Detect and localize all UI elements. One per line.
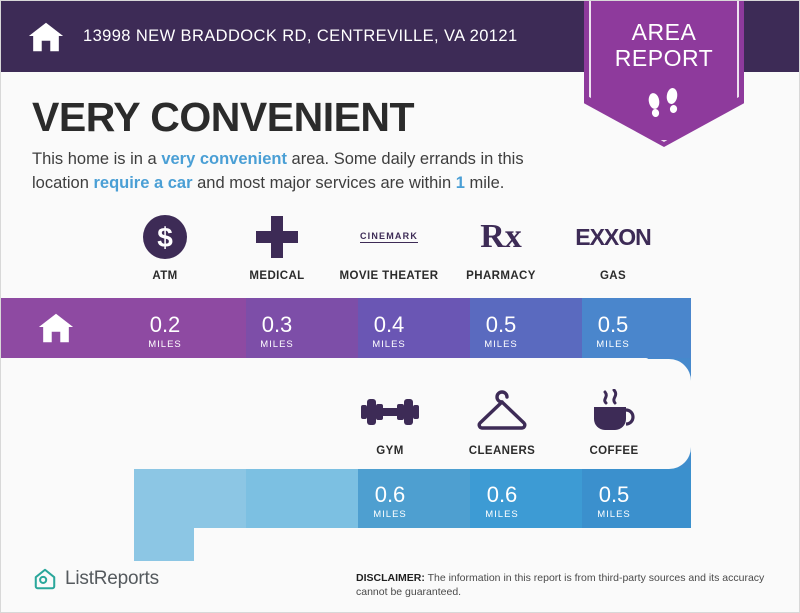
footprints-icon [642, 85, 686, 119]
dumbbell-icon [360, 388, 420, 436]
exxon-e: E [575, 224, 589, 250]
amenity-cleaners[interactable]: CLEANERS [446, 388, 558, 457]
desc-part-4: mile. [465, 174, 504, 192]
area-report-badge: AREA REPORT [584, 1, 744, 147]
amenity-label: COFFEE [589, 445, 638, 457]
ribbon-seg-pharmacy [470, 298, 582, 358]
home-icon [37, 309, 75, 347]
desc-part-1: This home is in a [32, 150, 161, 168]
listreports-house-icon [33, 567, 57, 591]
ribbon-seg-tail-b [246, 468, 358, 528]
amenity-label: PHARMACY [466, 270, 536, 282]
ribbon-seg-atm [134, 298, 246, 358]
badge-line-1: AREA [584, 19, 744, 45]
home-icon [27, 18, 65, 56]
amenity-label: GAS [600, 270, 626, 282]
amenity-movie-theater[interactable]: CINEMARK MOVIE THEATER [333, 213, 445, 282]
medical-cross-icon [254, 213, 300, 261]
amenity-atm[interactable]: $ ATM [109, 213, 221, 282]
desc-highlight-1: very convenient [161, 150, 287, 168]
amenity-label: ATM [152, 270, 177, 282]
ribbon-seg-medical [246, 298, 358, 358]
rx-icon: Rx [480, 213, 522, 261]
listreports-logo[interactable]: ListReports [33, 567, 159, 591]
exxon-logo-icon: EXXON [575, 213, 651, 261]
rx-wordmark: Rx [480, 220, 522, 254]
exxon-xx: XX [590, 226, 619, 249]
amenity-label: MOVIE THEATER [340, 270, 439, 282]
cinemark-logo-icon: CINEMARK [360, 213, 418, 261]
ribbon-seg-gym [358, 468, 470, 528]
desc-highlight-2: require a car [93, 174, 192, 192]
exxon-on: ON [618, 224, 651, 250]
disclaimer: DISCLAIMER: The information in this repo… [356, 571, 776, 599]
amenity-pharmacy[interactable]: Rx PHARMACY [445, 213, 557, 282]
ribbon-top-segments [1, 298, 694, 358]
listreports-wordmark: ListReports [65, 568, 159, 590]
cinemark-wordmark: CINEMARK [360, 232, 418, 243]
amenity-medical[interactable]: MEDICAL [221, 213, 333, 282]
amenity-gym[interactable]: GYM [334, 388, 446, 457]
amenity-row-bottom: GYM CLEANERS COFFEE [334, 388, 670, 457]
exxon-wordmark: EXXON [575, 226, 651, 249]
ribbon-seg-cleaners [470, 468, 582, 528]
ribbon-seg-coffee [582, 468, 694, 528]
page-title: VERY CONVENIENT [32, 94, 414, 141]
ribbon-seg-gas [582, 298, 694, 358]
badge-line-2: REPORT [584, 45, 744, 71]
hanger-icon [474, 388, 530, 436]
amenity-label: MEDICAL [249, 270, 304, 282]
description-text: This home is in a very convenient area. … [32, 147, 577, 195]
area-report-infographic: 13998 NEW BRADDOCK RD, CENTREVILLE, VA 2… [0, 0, 800, 613]
amenity-label: GYM [376, 445, 403, 457]
amenity-label: CLEANERS [469, 445, 535, 457]
amenity-coffee[interactable]: COFFEE [558, 388, 670, 457]
badge-text: AREA REPORT [584, 19, 744, 71]
disclaimer-label: DISCLAIMER: [356, 572, 425, 584]
property-address: 13998 NEW BRADDOCK RD, CENTREVILLE, VA 2… [83, 27, 518, 46]
dollar-circle-icon: $ [141, 213, 189, 261]
coffee-cup-icon [588, 388, 640, 436]
amenity-row-top: $ ATM MEDICAL CINEMARK MOVIE THEATER Rx [109, 213, 669, 282]
ribbon-seg-theater [358, 298, 470, 358]
desc-part-3: and most major services are within [193, 174, 456, 192]
amenity-gas[interactable]: EXXON GAS [557, 213, 669, 282]
desc-highlight-3: 1 [456, 174, 465, 192]
svg-text:$: $ [157, 222, 173, 253]
